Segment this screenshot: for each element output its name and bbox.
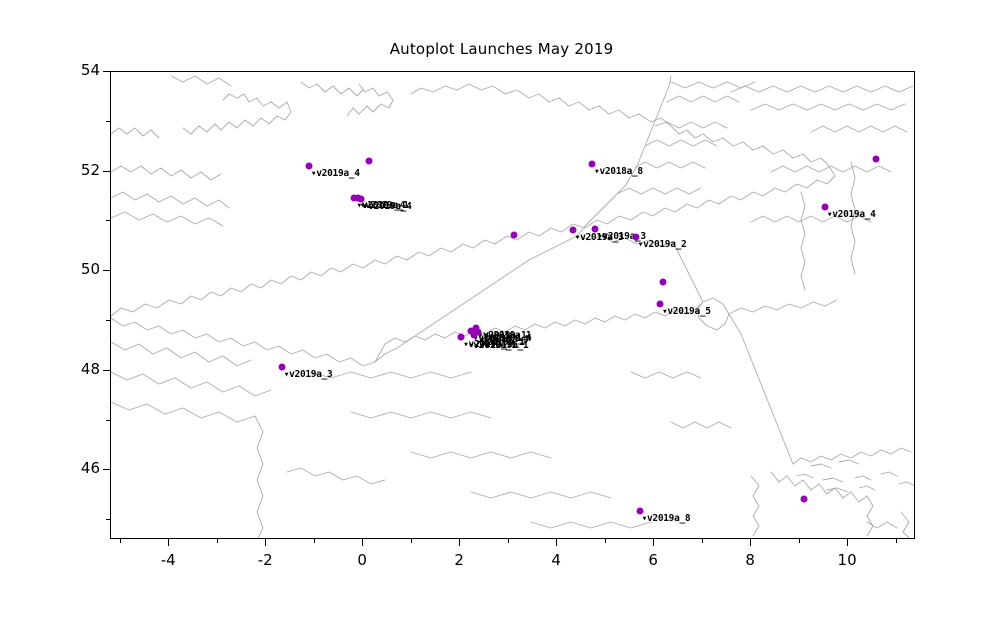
x-tick xyxy=(508,539,509,543)
scatter-points-layer: ▾v2019a_4▾v2019a_4▾v2019a_1▾v2019a_4▾v20… xyxy=(111,72,915,539)
y-tick-label: 46 xyxy=(50,459,100,477)
y-tick xyxy=(106,519,110,520)
x-tick-label: 10 xyxy=(817,551,877,569)
x-tick-label: 2 xyxy=(429,551,489,569)
y-tick xyxy=(103,71,110,72)
y-tick xyxy=(106,220,110,221)
matplotlib-figure: Autoplot Launches May 2019 xyxy=(0,0,1003,633)
point-label: ▾v2019a_8 xyxy=(642,514,691,524)
x-tick xyxy=(799,539,800,543)
y-tick-label: 54 xyxy=(50,61,100,79)
point-label: ▾v2019a_4 xyxy=(311,169,360,179)
x-tick-label: -4 xyxy=(138,551,198,569)
y-tick xyxy=(103,270,110,271)
scatter-point[interactable] xyxy=(511,232,518,239)
x-tick xyxy=(362,539,363,546)
page-title: Autoplot Launches May 2019 xyxy=(0,40,1003,58)
x-tick xyxy=(605,539,606,543)
x-tick xyxy=(750,539,751,546)
map-axes: ▾v2019a_4▾v2019a_4▾v2019a_1▾v2019a_4▾v20… xyxy=(110,71,915,539)
x-tick xyxy=(120,539,121,543)
x-tick-label: 4 xyxy=(526,551,586,569)
y-tick-label: 52 xyxy=(50,161,100,179)
scatter-point[interactable] xyxy=(659,279,666,286)
x-tick-label: 0 xyxy=(332,551,392,569)
point-label: ▾v2019a_4 xyxy=(827,210,876,220)
y-tick xyxy=(103,469,110,470)
x-tick xyxy=(847,539,848,546)
x-tick xyxy=(411,539,412,543)
x-tick-label: -2 xyxy=(235,551,295,569)
y-tick xyxy=(106,121,110,122)
x-tick xyxy=(314,539,315,543)
x-tick xyxy=(702,539,703,543)
scatter-point[interactable] xyxy=(801,496,808,503)
y-tick xyxy=(103,171,110,172)
y-tick xyxy=(106,420,110,421)
x-tick xyxy=(217,539,218,543)
x-tick xyxy=(896,539,897,543)
y-tick xyxy=(103,370,110,371)
point-label: ▾v2019a_5 xyxy=(662,307,711,317)
x-tick-label: 8 xyxy=(720,551,780,569)
point-label: ▾v2019a_4 xyxy=(363,202,412,212)
scatter-point[interactable] xyxy=(365,157,372,164)
x-tick xyxy=(265,539,266,546)
x-tick xyxy=(556,539,557,546)
y-tick xyxy=(106,320,110,321)
x-tick-label: 6 xyxy=(623,551,683,569)
point-label: ▾v2019a_1 xyxy=(480,341,529,351)
point-label: ▾v2018a_8 xyxy=(594,167,643,177)
x-tick xyxy=(653,539,654,546)
x-tick xyxy=(459,539,460,546)
scatter-point[interactable] xyxy=(873,156,880,163)
point-label: ▾v2019a_3 xyxy=(284,370,333,380)
point-label: ▾v2019a_2 xyxy=(638,240,687,250)
y-tick-label: 50 xyxy=(50,260,100,278)
x-tick xyxy=(168,539,169,546)
y-tick-label: 48 xyxy=(50,360,100,378)
